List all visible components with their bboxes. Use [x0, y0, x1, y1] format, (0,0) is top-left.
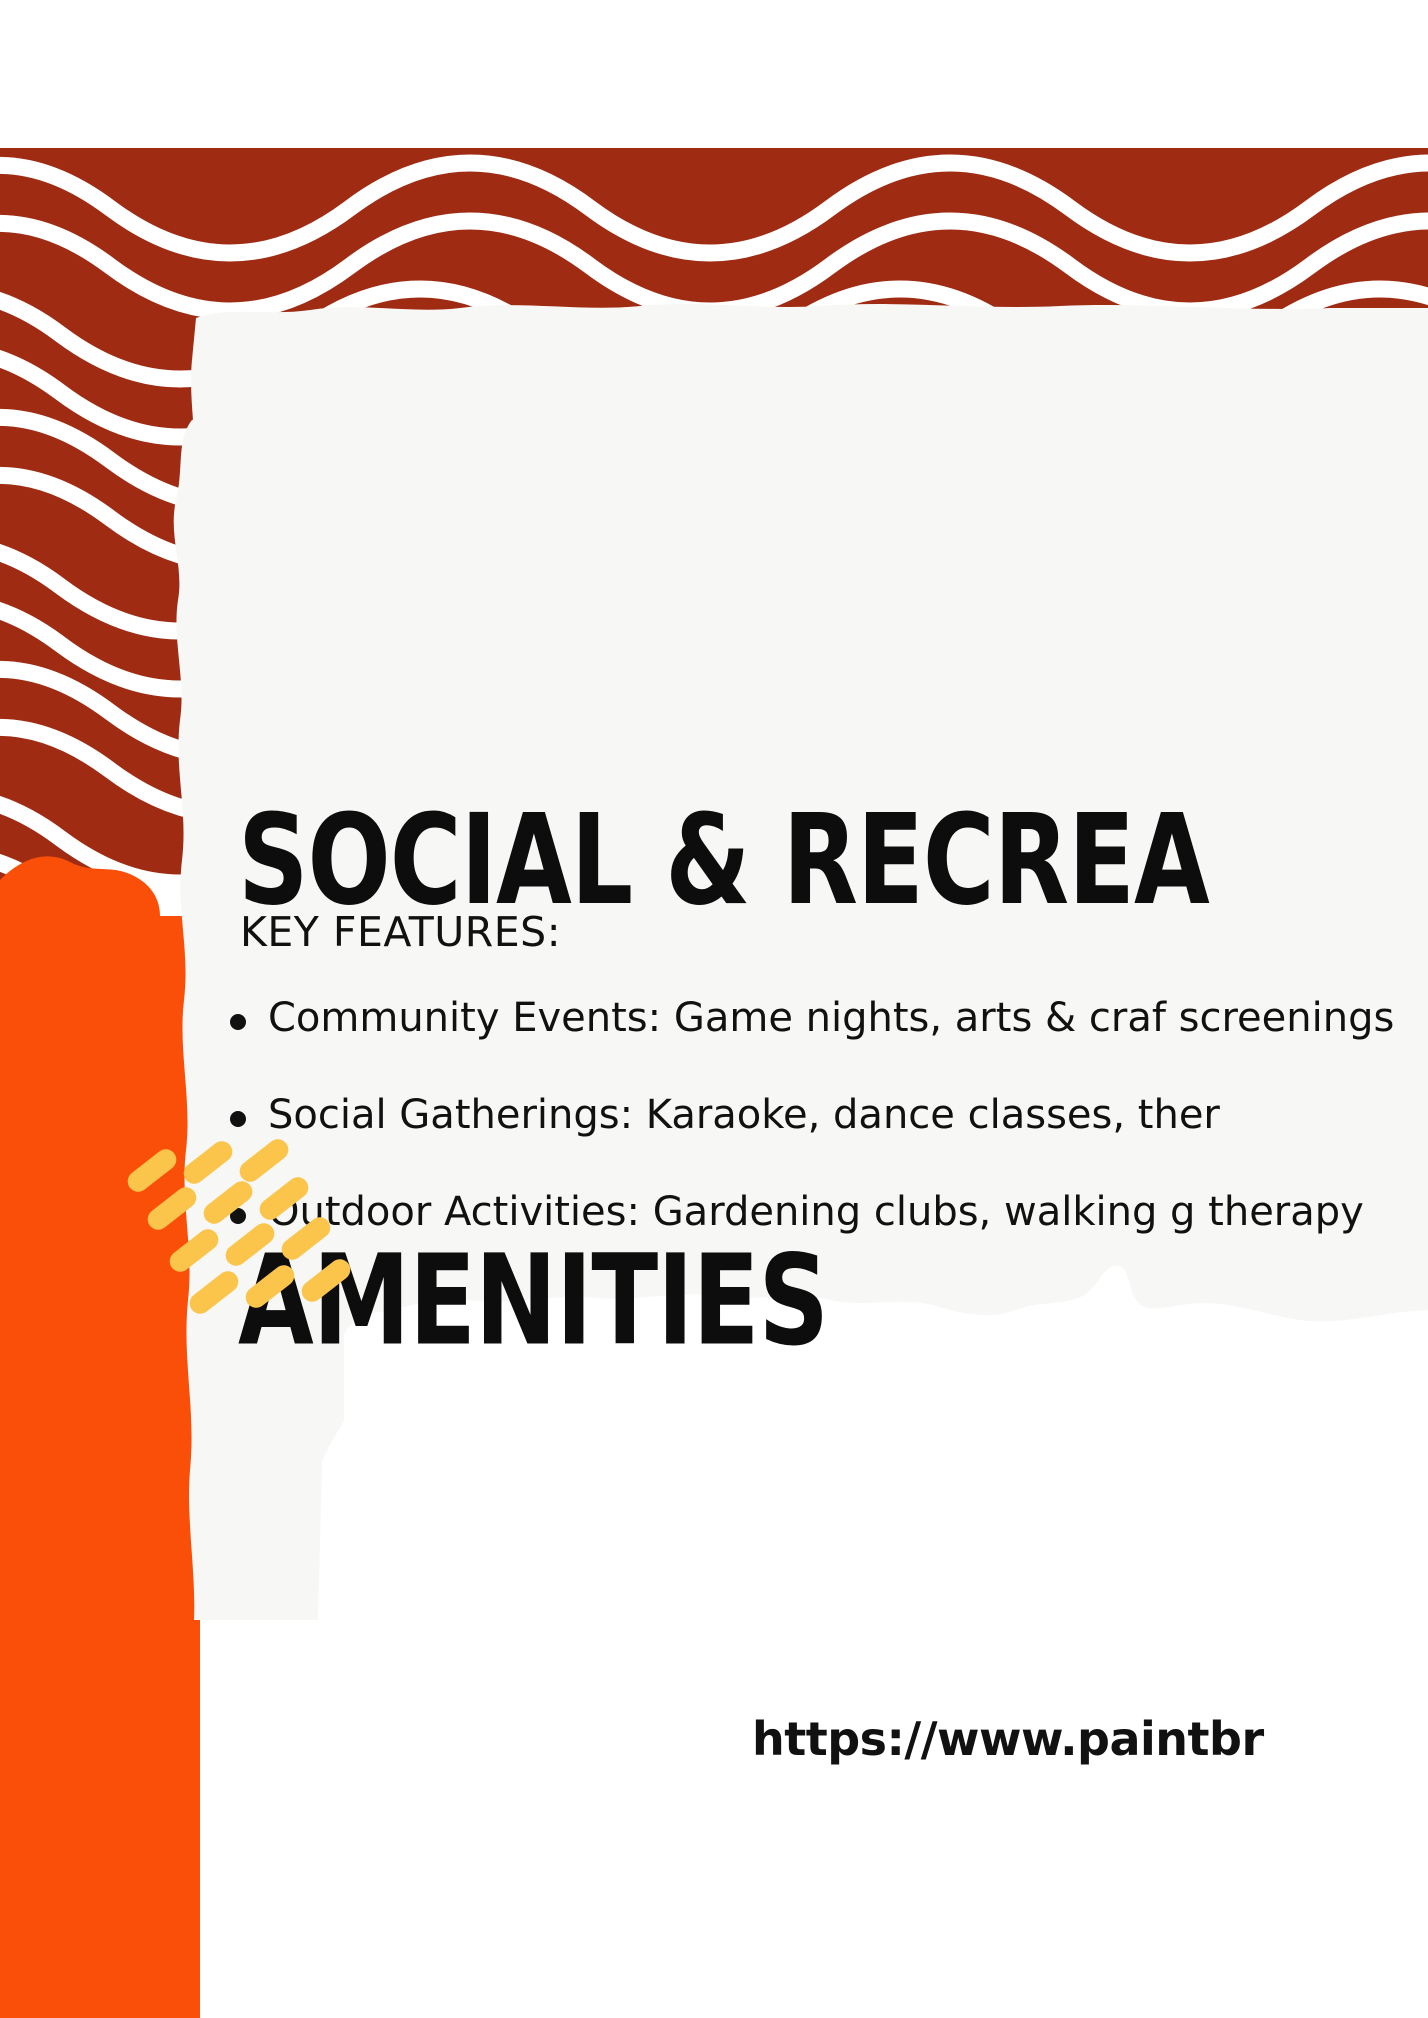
website-url[interactable]: https://www.paintbr	[752, 1712, 1264, 1766]
dash-mark	[255, 1173, 312, 1224]
card-content: SOCIAL & RECREA AMENITIES KEY FEATURES: …	[140, 300, 1428, 1620]
dash-mark	[221, 1219, 278, 1270]
dash-mark	[297, 1255, 354, 1306]
key-features-list: Community Events: Game nights, arts & cr…	[230, 990, 1428, 1280]
dash-mark	[277, 1213, 334, 1264]
list-item-text: Social Gatherings: Karaoke, dance classe…	[268, 1087, 1428, 1144]
dash-mark	[165, 1225, 222, 1276]
bullet-dot-icon	[230, 1014, 246, 1030]
yellow-dash-decoration	[118, 1150, 348, 1350]
list-item: Community Events: Game nights, arts & cr…	[230, 990, 1428, 1047]
list-item-text: Community Events: Game nights, arts & cr…	[268, 990, 1428, 1047]
dash-mark	[241, 1261, 298, 1312]
dash-mark	[199, 1177, 256, 1228]
dash-mark	[123, 1145, 180, 1196]
dash-mark	[185, 1267, 242, 1318]
content-card: SOCIAL & RECREA AMENITIES KEY FEATURES: …	[140, 300, 1428, 1620]
bullet-dot-icon	[230, 1111, 246, 1127]
top-white-margin	[0, 0, 1428, 148]
list-item-text: Outdoor Activities: Gardening clubs, wal…	[268, 1184, 1428, 1241]
list-item: Social Gatherings: Karaoke, dance classe…	[230, 1087, 1428, 1144]
dash-mark	[143, 1183, 200, 1234]
key-features-label: KEY FEATURES:	[240, 908, 561, 956]
list-item: Outdoor Activities: Gardening clubs, wal…	[230, 1184, 1428, 1241]
poster-canvas: SOCIAL & RECREA AMENITIES KEY FEATURES: …	[0, 0, 1428, 2018]
